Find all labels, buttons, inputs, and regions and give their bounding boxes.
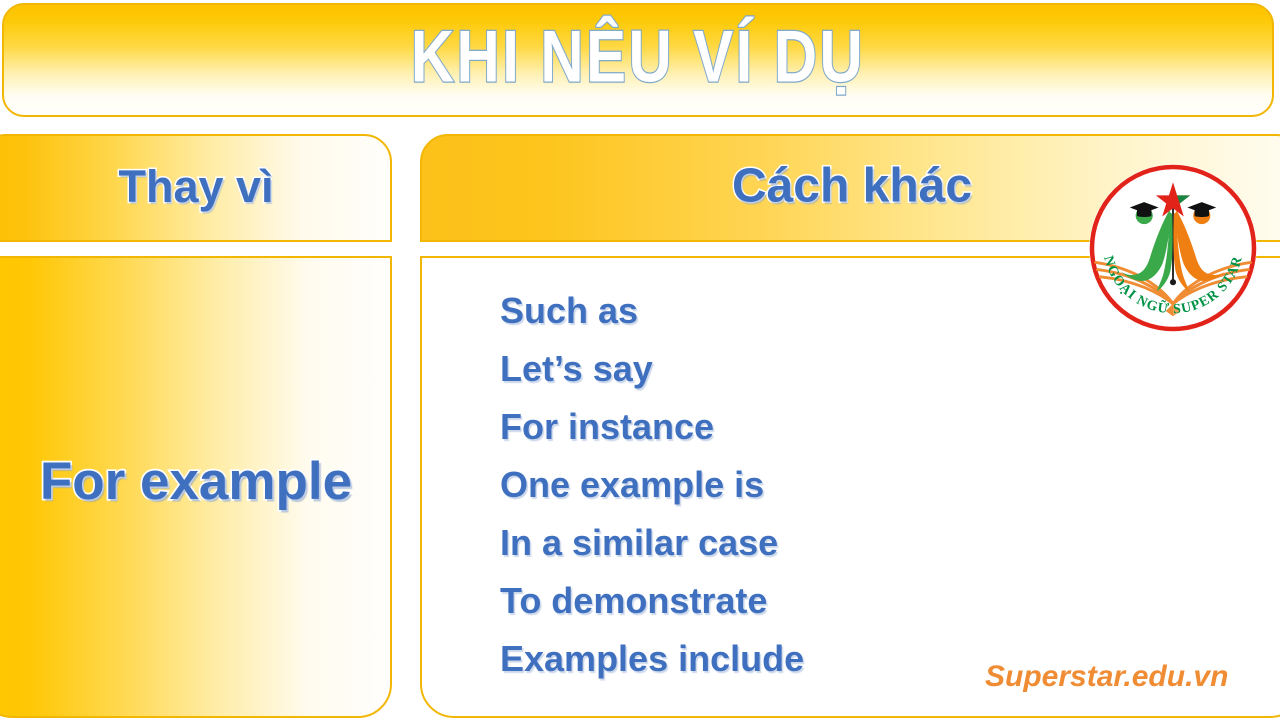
left-column-header: Thay vì (0, 134, 392, 242)
page-title-text: KHI NÊU VÍ DỤ (411, 20, 865, 97)
alternative-phrase-list: Such as Let’s say For instance One examp… (500, 282, 804, 688)
list-item: In a similar case (500, 514, 804, 572)
slide-canvas: KHI NÊU VÍ DỤ Thay vì For example Cách k… (0, 0, 1280, 720)
left-column-header-label: Thay vì (2, 161, 390, 213)
left-column-body: For example (0, 256, 392, 718)
superstar-logo-icon: NGOẠI NGỮ SUPER STAR (1083, 158, 1263, 338)
superstar-logo: NGOẠI NGỮ SUPER STAR (1083, 158, 1263, 338)
page-title: KHI NÊU VÍ DỤ (4, 22, 1272, 99)
list-item: To demonstrate (500, 572, 804, 630)
list-item: Let’s say (500, 340, 804, 398)
slide-title-bar: KHI NÊU VÍ DỤ (2, 3, 1274, 117)
list-item: For instance (500, 398, 804, 456)
list-item: One example is (500, 456, 804, 514)
list-item: Examples include (500, 630, 804, 688)
list-item: Such as (500, 282, 804, 340)
watermark-url: Superstar.edu.vn (985, 660, 1228, 694)
left-column-phrase: For example (18, 451, 352, 512)
